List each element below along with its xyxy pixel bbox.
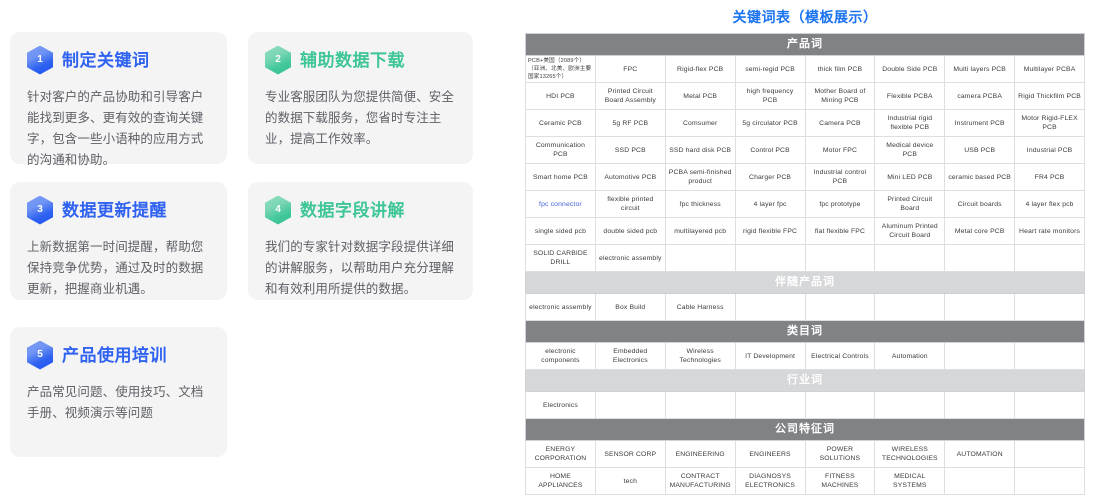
table-cell: Printed Circuit Board: [875, 191, 945, 218]
table-section-title: 公司特征词: [526, 419, 1085, 441]
feature-card-header: 2辅助数据下载: [265, 46, 456, 74]
table-cell: flexible printed circuit: [595, 191, 665, 218]
table-cell: Electrical Controls: [805, 343, 875, 370]
table-cell: [1015, 441, 1085, 468]
feature-card-body: 我们的专家针对数据字段提供详细的讲解服务，以帮助用户充分理解和有效利用所提供的数…: [265, 237, 456, 300]
table-cell: WIRELESS TECHNOLOGIES: [875, 441, 945, 468]
table-row: single sided pcbdouble sided pcbmultilay…: [526, 218, 1085, 245]
table-cell: Charger PCB: [735, 164, 805, 191]
feature-card-title: 制定关键词: [62, 52, 150, 69]
table-cell: Rigid-flex PCB: [665, 56, 735, 83]
table-cell: Electronics: [526, 392, 596, 419]
table-cell: [735, 294, 805, 321]
table-cell: Box Build: [595, 294, 665, 321]
feature-card-title: 数据字段讲解: [300, 202, 405, 219]
table-cell: thick film PCB: [805, 56, 875, 83]
table-cell: FR4 PCB: [1015, 164, 1085, 191]
step-number: 3: [37, 205, 43, 215]
table-cell: Motor FPC: [805, 137, 875, 164]
table-cell: [735, 245, 805, 272]
table-cell: [875, 392, 945, 419]
step-number: 4: [275, 205, 281, 215]
table-cell: Printed Circuit Board Assembly: [595, 83, 665, 110]
table-cell: 5g RF PCB: [595, 110, 665, 137]
step-number-badge: 3: [27, 196, 53, 225]
feature-card-body: 专业客服团队为您提供简便、安全的数据下载服务，您省时专注主业，提高工作效率。: [265, 87, 456, 150]
table-cell: ENGINEERING: [665, 441, 735, 468]
table-row: HDI PCBPrinted Circuit Board AssemblyMet…: [526, 83, 1085, 110]
table-row: Smart home PCBAutomotive PCBPCBA semi-fi…: [526, 164, 1085, 191]
step-number: 5: [37, 350, 43, 360]
table-section-header: 类目词: [526, 321, 1085, 343]
table-cell: fpc prototype: [805, 191, 875, 218]
table-cell: double sided pcb: [595, 218, 665, 245]
features-panel: 1制定关键词针对客户的产品协助和引导客户能找到更多、更有效的查询关键字，包含一些…: [0, 0, 500, 486]
step-number-badge: 2: [265, 46, 291, 75]
table-cell: high frequency PCB: [735, 83, 805, 110]
table-cell: [735, 392, 805, 419]
table-cell: [875, 294, 945, 321]
table-cell: [805, 392, 875, 419]
table-cell: HOME APPLIANCES: [526, 468, 596, 495]
table-cell: HDI PCB: [526, 83, 596, 110]
table-cell: Flexible PCBA: [875, 83, 945, 110]
table-row: ENERGY CORPORATIONSENSOR CORPENGINEERING…: [526, 441, 1085, 468]
table-cell: Multi layers PCB: [945, 56, 1015, 83]
table-cell: flat flexible FPC: [805, 218, 875, 245]
table-cell: Automotive PCB: [595, 164, 665, 191]
table-cell: Circuit boards: [945, 191, 1015, 218]
table-cell: Aluminum Printed Circuit Board: [875, 218, 945, 245]
keyword-table-panel: 关键词表（模板展示） 产品词PCB+美国（2089个）（亚洲、北美、欧洲主要国家…: [525, 0, 1103, 486]
table-section-title: 行业词: [526, 370, 1085, 392]
table-cell: Mini LED PCB: [875, 164, 945, 191]
table-row: Electronics: [526, 392, 1085, 419]
table-row: PCB+美国（2089个）（亚洲、北美、欧洲主要国家13265个）FPCRigi…: [526, 56, 1085, 83]
table-cell: Industrial PCB: [1015, 137, 1085, 164]
table-row: HOME APPLIANCEStechCONTRACT MANUFACTURIN…: [526, 468, 1085, 495]
table-cell: AUTOMATION: [945, 441, 1015, 468]
step-number: 1: [37, 55, 43, 65]
table-cell: Medical device PCB: [875, 137, 945, 164]
feature-card-title: 数据更新提醒: [62, 202, 167, 219]
table-cell: multilayered pcb: [665, 218, 735, 245]
table-cell: [665, 392, 735, 419]
table-cell: [945, 343, 1015, 370]
table-cell: MEDICAL SYSTEMS: [875, 468, 945, 495]
step-number-badge: 5: [27, 341, 53, 370]
step-number-badge: 1: [27, 46, 53, 75]
table-cell: [945, 392, 1015, 419]
table-cell: Rigid Thickfilm PCB: [1015, 83, 1085, 110]
table-cell: ceramic based PCB: [945, 164, 1015, 191]
table-cell: Double Side PCB: [875, 56, 945, 83]
table-cell: Automation: [875, 343, 945, 370]
feature-card-body: 针对客户的产品协助和引导客户能找到更多、更有效的查询关键字，包含一些小语种的应用…: [27, 87, 210, 171]
table-cell: Motor Rigid-FLEX PCB: [1015, 110, 1085, 137]
table-cell: [875, 245, 945, 272]
table-row: SOLID CARBIDE DRILLelectronic assembly: [526, 245, 1085, 272]
table-cell: Heart rate monitors: [1015, 218, 1085, 245]
table-cell: Metal PCB: [665, 83, 735, 110]
feature-card-body: 产品常见问题、使用技巧、文档手册、视频演示等问题: [27, 382, 210, 424]
table-cell: 5g circulator PCB: [735, 110, 805, 137]
table-row: fpc connectorflexible printed circuitfpc…: [526, 191, 1085, 218]
table-cell: single sided pcb: [526, 218, 596, 245]
feature-card-title: 辅助数据下载: [300, 52, 405, 69]
table-cell: FITNESS MACHINES: [805, 468, 875, 495]
table-cell: [1015, 392, 1085, 419]
table-cell: Smart home PCB: [526, 164, 596, 191]
feature-card-body: 上新数据第一时间提醒，帮助您保持竞争优势，通过及时的数据更新，把握商业机遇。: [27, 237, 210, 300]
table-section-header: 公司特征词: [526, 419, 1085, 441]
table-cell: 4 layer flex pcb: [1015, 191, 1085, 218]
table-cell: Comsumer: [665, 110, 735, 137]
keyword-table: 产品词PCB+美国（2089个）（亚洲、北美、欧洲主要国家13265个）FPCR…: [525, 33, 1085, 495]
feature-card-4: 4数据字段讲解我们的专家针对数据字段提供详细的讲解服务，以帮助用户充分理解和有效…: [248, 182, 473, 300]
table-cell: Cable Harness: [665, 294, 735, 321]
table-row: electronic componentsEmbedded Electronic…: [526, 343, 1085, 370]
table-cell: [805, 245, 875, 272]
table-row: Ceramic PCB5g RF PCBComsumer5g circulato…: [526, 110, 1085, 137]
table-cell: Camera PCB: [805, 110, 875, 137]
table-cell: camera PCBA: [945, 83, 1015, 110]
table-cell: [945, 245, 1015, 272]
table-cell: Multilayer PCBA: [1015, 56, 1085, 83]
table-cell: PCB+美国（2089个）（亚洲、北美、欧洲主要国家13265个）: [526, 56, 596, 83]
keyword-table-title: 关键词表（模板展示）: [525, 0, 1085, 33]
feature-card-2: 2辅助数据下载专业客服团队为您提供简便、安全的数据下载服务，您省时专注主业，提高…: [248, 32, 473, 164]
table-cell: [595, 392, 665, 419]
feature-card-header: 4数据字段讲解: [265, 196, 456, 224]
table-cell: Ceramic PCB: [526, 110, 596, 137]
table-cell: [805, 294, 875, 321]
table-cell: semi-regid PCB: [735, 56, 805, 83]
table-cell: electronic assembly: [595, 245, 665, 272]
table-cell: CONTRACT MANUFACTURING: [665, 468, 735, 495]
table-cell[interactable]: fpc connector: [526, 191, 596, 218]
table-row: Communication PCBSSD PCBSSD hard disk PC…: [526, 137, 1085, 164]
table-cell: POWER SOLUTIONS: [805, 441, 875, 468]
table-section-title: 类目词: [526, 321, 1085, 343]
table-cell: electronic assembly: [526, 294, 596, 321]
feature-card-5: 5产品使用培训产品常见问题、使用技巧、文档手册、视频演示等问题: [10, 327, 227, 457]
table-cell: FPC: [595, 56, 665, 83]
feature-card-1: 1制定关键词针对客户的产品协助和引导客户能找到更多、更有效的查询关键字，包含一些…: [10, 32, 227, 164]
table-cell: Instrument PCB: [945, 110, 1015, 137]
table-cell: [945, 468, 1015, 495]
table-section-title: 产品词: [526, 34, 1085, 56]
table-cell: ENERGY CORPORATION: [526, 441, 596, 468]
table-cell: Metal core PCB: [945, 218, 1015, 245]
table-cell: Industrial rigid flexible PCB: [875, 110, 945, 137]
table-row: electronic assemblyBox BuildCable Harnes…: [526, 294, 1085, 321]
feature-card-title: 产品使用培训: [62, 347, 167, 364]
table-cell: IT Development: [735, 343, 805, 370]
table-cell: [1015, 343, 1085, 370]
table-cell: Control PCB: [735, 137, 805, 164]
table-cell: Communication PCB: [526, 137, 596, 164]
table-cell: SOLID CARBIDE DRILL: [526, 245, 596, 272]
table-section-header: 行业词: [526, 370, 1085, 392]
table-cell: Embedded Electronics: [595, 343, 665, 370]
table-cell: Wireless Technologies: [665, 343, 735, 370]
table-cell: fpc thickness: [665, 191, 735, 218]
table-cell: [1015, 294, 1085, 321]
table-cell: [665, 245, 735, 272]
table-cell: tech: [595, 468, 665, 495]
feature-card-header: 5产品使用培训: [27, 341, 210, 369]
table-cell: 4 layer fpc: [735, 191, 805, 218]
table-cell: [1015, 245, 1085, 272]
table-cell: [945, 294, 1015, 321]
feature-card-header: 1制定关键词: [27, 46, 210, 74]
table-cell: Industrial control PCB: [805, 164, 875, 191]
table-cell: ENGINEERS: [735, 441, 805, 468]
table-cell: [1015, 468, 1085, 495]
table-cell: PCBA semi-finished product: [665, 164, 735, 191]
step-number: 2: [275, 55, 281, 65]
step-number-badge: 4: [265, 196, 291, 225]
table-section-title: 伴随产品词: [526, 272, 1085, 294]
table-section-header: 伴随产品词: [526, 272, 1085, 294]
table-cell: USB PCB: [945, 137, 1015, 164]
table-cell: SSD hard disk PCB: [665, 137, 735, 164]
table-cell: SENSOR CORP: [595, 441, 665, 468]
table-cell: rigid flexible FPC: [735, 218, 805, 245]
table-section-header: 产品词: [526, 34, 1085, 56]
feature-card-header: 3数据更新提醒: [27, 196, 210, 224]
table-cell: DIAGNOSYS ELECTRONICS: [735, 468, 805, 495]
table-cell: Mother Board of Mining PCB: [805, 83, 875, 110]
table-cell: SSD PCB: [595, 137, 665, 164]
feature-card-3: 3数据更新提醒上新数据第一时间提醒，帮助您保持竞争优势，通过及时的数据更新，把握…: [10, 182, 227, 300]
table-cell: electronic components: [526, 343, 596, 370]
